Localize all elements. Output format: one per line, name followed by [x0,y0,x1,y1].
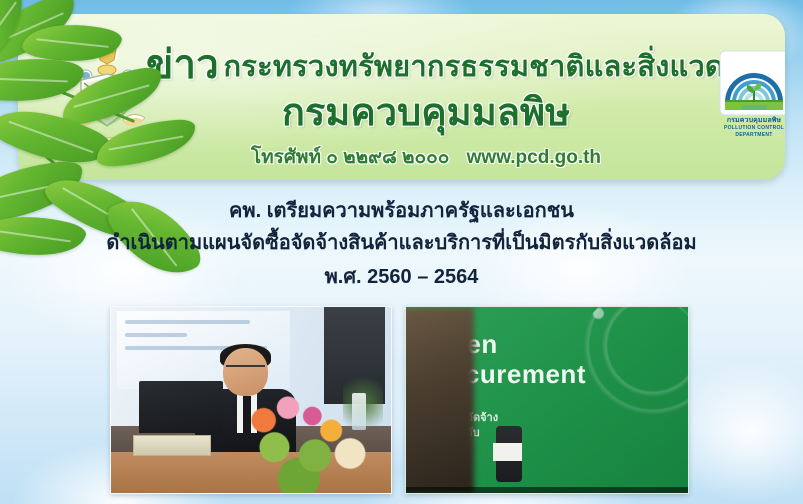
foreground-blur [405,307,474,493]
name-plate [133,435,211,456]
pcd-logo-thai-text: กรมควบคุมมลพิษ [708,117,785,125]
website-link[interactable]: www.pcd.go.th [467,147,601,168]
headline-line-1: คพ. เตรียมความพร้อมภาครัฐและเอกชน [0,196,803,226]
photo-content: Green Procurement การจัดซื้อจัดจ้าง ที่เ… [406,307,688,493]
pcd-logo-mark [719,50,785,116]
ministry-name: กระทรวงทรัพยากรธรรมชาติและสิ่งแวดล้อม [224,51,779,83]
department-name: กรมควบคุมมลพิษ [146,93,706,133]
contact-line: โทรศัพท์ ๐ ๒๒๙๘ ๒๐๐๐ www.pcd.go.th [146,147,706,169]
pcd-logo: กรมควบคุมมลพิษ POLLUTION CONTROL DEPARTM… [708,50,785,150]
pcd-logo-english-text: POLLUTION CONTROL DEPARTMENT [708,125,785,139]
phone-label: โทรศัพท์ ๐ ๒๒๙๘ ๒๐๐๐ [251,147,449,168]
photo-content [111,307,391,493]
photo-press-conference[interactable] [110,306,392,494]
headline-line-3: พ.ศ. 2560 – 2564 [0,260,803,294]
ministry-emblem [61,36,153,158]
header-panel: ข่าว กระทรวงทรัพยากรธรรมชาติและสิ่งแวดล้… [18,14,785,180]
photo-interview[interactable]: Green Procurement การจัดซื้อจัดจ้าง ที่เ… [405,306,689,494]
speaker-glasses [226,365,265,374]
news-label: ข่าว [146,43,219,87]
headline-line-2: ดำเนินตามแผนจัดซื้อจัดจ้างสินค้าและบริกา… [0,226,803,260]
microphone-flag [493,443,521,462]
photo-bottom-bar [406,487,688,493]
news-banner: ข่าว กระทรวงทรัพยากรธรรมชาติและสิ่งแวดล้… [0,0,803,504]
headline-block: คพ. เตรียมความพร้อมภาครัฐและเอกชน ดำเนิน… [0,196,803,294]
header-title-line: ข่าว กระทรวงทรัพยากรธรรมชาติและสิ่งแวดล้… [146,45,706,85]
flower-arrangement [234,389,368,493]
ministry-emblem-mark [61,36,153,158]
laptop [139,381,223,433]
